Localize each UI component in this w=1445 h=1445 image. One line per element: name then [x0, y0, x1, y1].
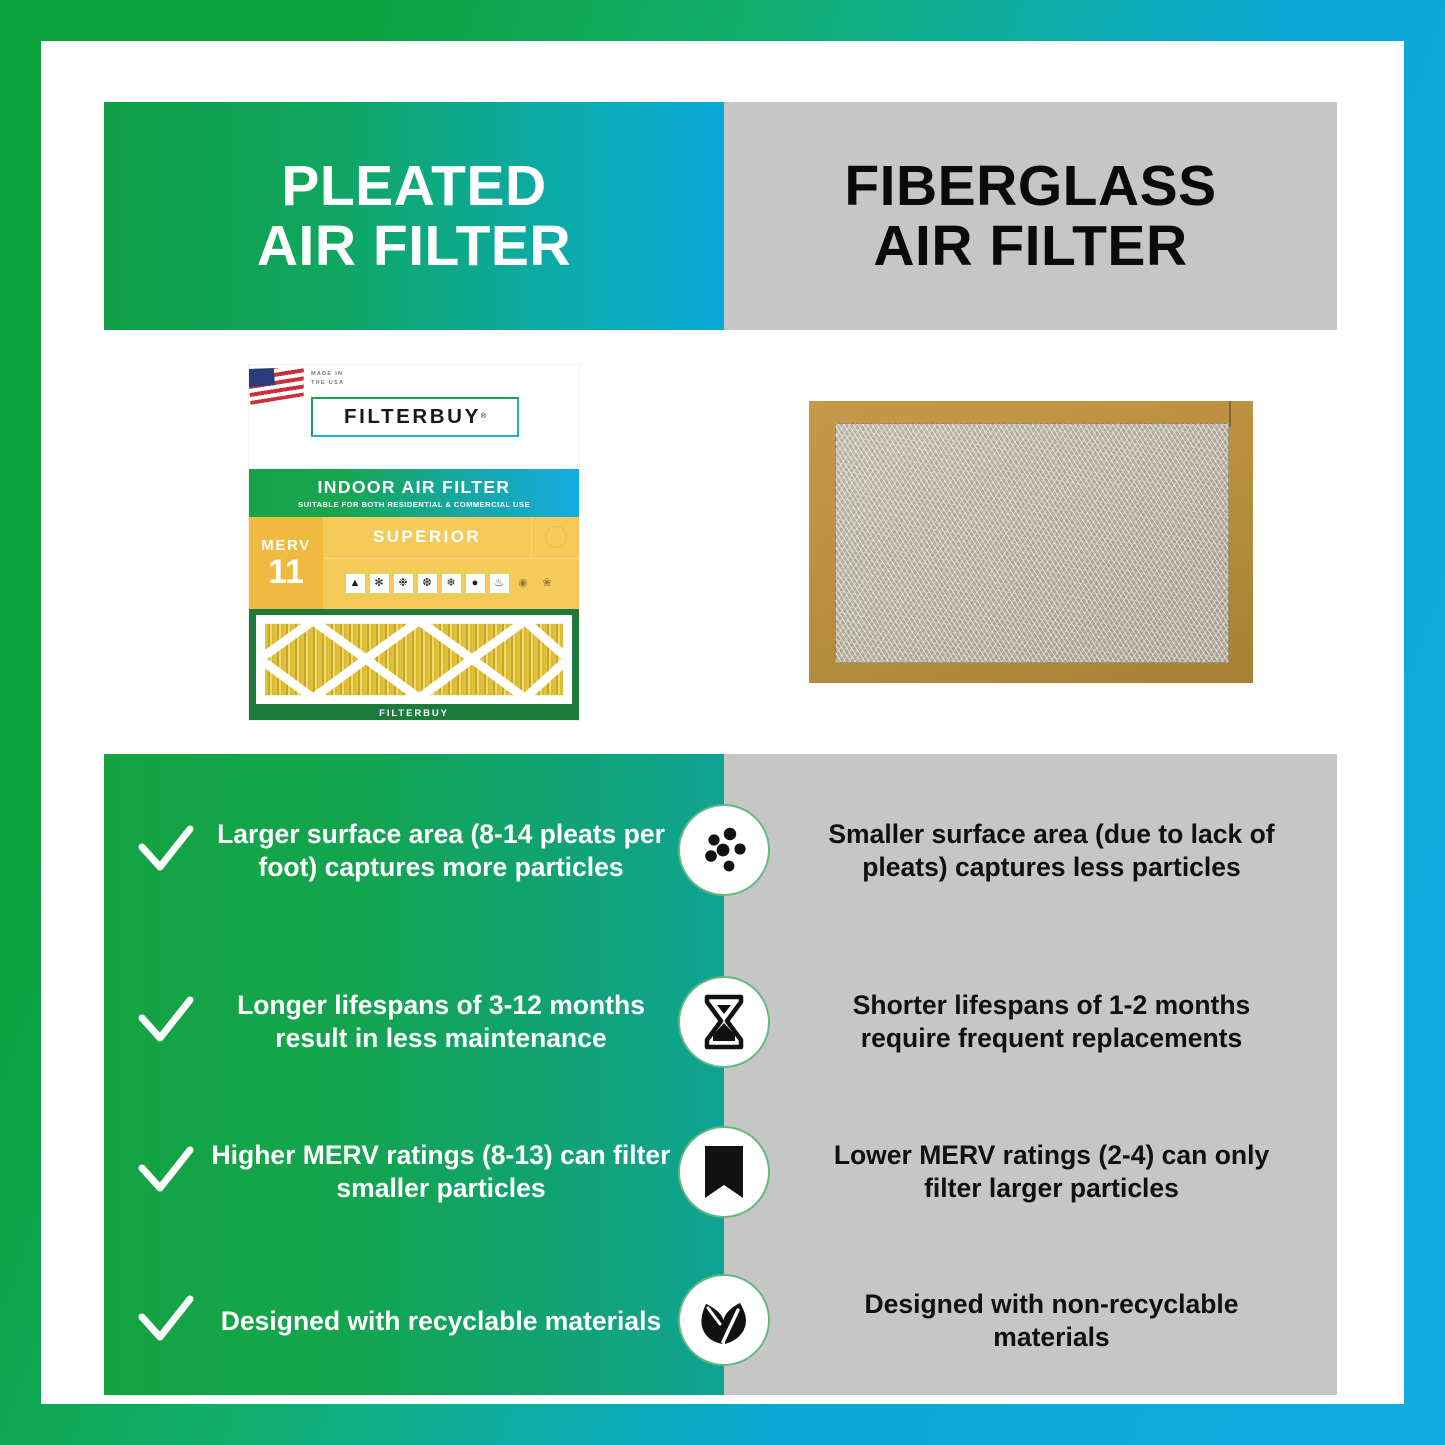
box-band-title: INDOOR AIR FILTER — [318, 477, 511, 498]
pet-dander-icon: ● — [465, 573, 486, 594]
row-1-fiberglass-cell: Smaller surface area (due to lack of ple… — [724, 754, 1337, 947]
leaf-icon — [678, 1274, 770, 1366]
check-mark-icon — [134, 1146, 198, 1198]
filterbuy-logo: FILTERBUY® — [311, 397, 519, 437]
pleated-header-line1: PLEATED — [281, 154, 546, 218]
row-3-fiberglass-text: Lower MERV ratings (2-4) can only filter… — [808, 1139, 1295, 1205]
row-2-pleated-text: Longer lifespans of 3-12 months result i… — [198, 989, 684, 1055]
pollen-icon: ❆ — [417, 573, 438, 594]
dust-icon: ▲ — [345, 573, 366, 594]
pleated-product-cell: MADE INTHE USA FILTERBUY® INDOOR AIR FIL… — [104, 330, 724, 754]
fiberglass-filter-image — [809, 401, 1253, 683]
row-4-fiberglass-text: Designed with non-recyclable materials — [808, 1288, 1295, 1354]
support-lattice — [256, 615, 572, 704]
insect-icon: ✻ — [369, 573, 390, 594]
infographic-canvas: PLEATED AIR FILTER FIBERGLASS AIR FILTER… — [104, 102, 1337, 1345]
usa-flag-icon — [249, 365, 306, 405]
pleated-header: PLEATED AIR FILTER — [104, 102, 724, 330]
filterbuy-wordmark: FILTERBUY — [344, 405, 481, 429]
tier-row: SUPERIOR — [323, 517, 579, 559]
virus-icon: ❉ — [393, 573, 414, 594]
box-merv-panel: MERV 11 SUPERIOR ▲ ✻ ❉ ❆ ❄ — [249, 517, 579, 609]
pleated-filter-face: FILTERBUY — [249, 609, 579, 720]
row-2-fiberglass-text: Shorter lifespans of 1-2 months require … — [808, 989, 1295, 1055]
check-mark-icon — [134, 1295, 198, 1347]
comparison-section: Larger surface area (8-14 pleats per foo… — [104, 754, 1337, 1395]
box-top-white-panel: MADE INTHE USA FILTERBUY® — [249, 365, 579, 469]
row-3-pleated-cell: Higher MERV ratings (8-13) can filter sm… — [104, 1097, 724, 1247]
merv-badge: MERV 11 — [249, 517, 323, 609]
merv-label: MERV — [261, 537, 310, 554]
pleated-header-line2: AIR FILTER — [257, 214, 571, 278]
row-4-pleated-cell: Designed with recyclable materials — [104, 1247, 724, 1395]
row-1-pleated-text: Larger surface area (8-14 pleats per foo… — [198, 818, 684, 884]
header-band: PLEATED AIR FILTER FIBERGLASS AIR FILTER — [104, 102, 1337, 330]
fiberglass-header-line1: FIBERGLASS — [844, 154, 1216, 218]
box-tier-section: SUPERIOR ▲ ✻ ❉ ❆ ❄ ● ♨ ◉ ❀ — [323, 517, 579, 609]
mold-icon: ❄ — [441, 573, 462, 594]
row-3-pleated-text: Higher MERV ratings (8-13) can filter sm… — [198, 1139, 684, 1205]
row-4-pleated-text: Designed with recyclable materials — [198, 1305, 684, 1338]
bookmark-icon — [678, 1126, 770, 1218]
fiberglass-header: FIBERGLASS AIR FILTER — [724, 102, 1337, 330]
row-3-fiberglass-cell: Lower MERV ratings (2-4) can only filter… — [724, 1097, 1337, 1247]
trademark-symbol: ® — [481, 413, 486, 420]
box-footer-brand: FILTERBUY — [249, 708, 579, 719]
row-4-fiberglass-cell: Designed with non-recyclable materials — [724, 1247, 1337, 1395]
check-mark-icon — [134, 996, 198, 1048]
filterbuy-box-image: MADE INTHE USA FILTERBUY® INDOOR AIR FIL… — [249, 365, 579, 720]
particles-icon — [678, 804, 770, 896]
fiberglass-header-line2: AIR FILTER — [873, 214, 1187, 278]
ul-certification-icon — [531, 517, 579, 558]
product-image-strip: MADE INTHE USA FILTERBUY® INDOOR AIR FIL… — [104, 330, 1337, 754]
fiberglass-product-cell — [724, 330, 1337, 754]
row-1-pleated-cell: Larger surface area (8-14 pleats per foo… — [104, 754, 724, 947]
fiberglass-mesh-texture — [835, 423, 1229, 663]
made-in-usa-label: MADE INTHE USA — [311, 370, 344, 389]
check-mark-icon — [134, 825, 198, 877]
odor-icon-faded: ❀ — [537, 573, 558, 594]
bacteria-icon-faded: ◉ — [513, 573, 534, 594]
merv-value: 11 — [268, 555, 304, 589]
tier-label: SUPERIOR — [323, 527, 531, 547]
row-1-fiberglass-text: Smaller surface area (due to lack of ple… — [808, 818, 1295, 884]
feature-icon-strip: ▲ ✻ ❉ ❆ ❄ ● ♨ ◉ ❀ — [323, 559, 579, 609]
row-2-pleated-cell: Longer lifespans of 3-12 months result i… — [104, 947, 724, 1097]
hourglass-icon — [678, 976, 770, 1068]
row-2-fiberglass-cell: Shorter lifespans of 1-2 months require … — [724, 947, 1337, 1097]
box-gradient-band: INDOOR AIR FILTER SUITABLE FOR BOTH RESI… — [249, 469, 579, 517]
smoke-icon: ♨ — [489, 573, 510, 594]
box-band-subtitle: SUITABLE FOR BOTH RESIDENTIAL & COMMERCI… — [298, 500, 530, 509]
